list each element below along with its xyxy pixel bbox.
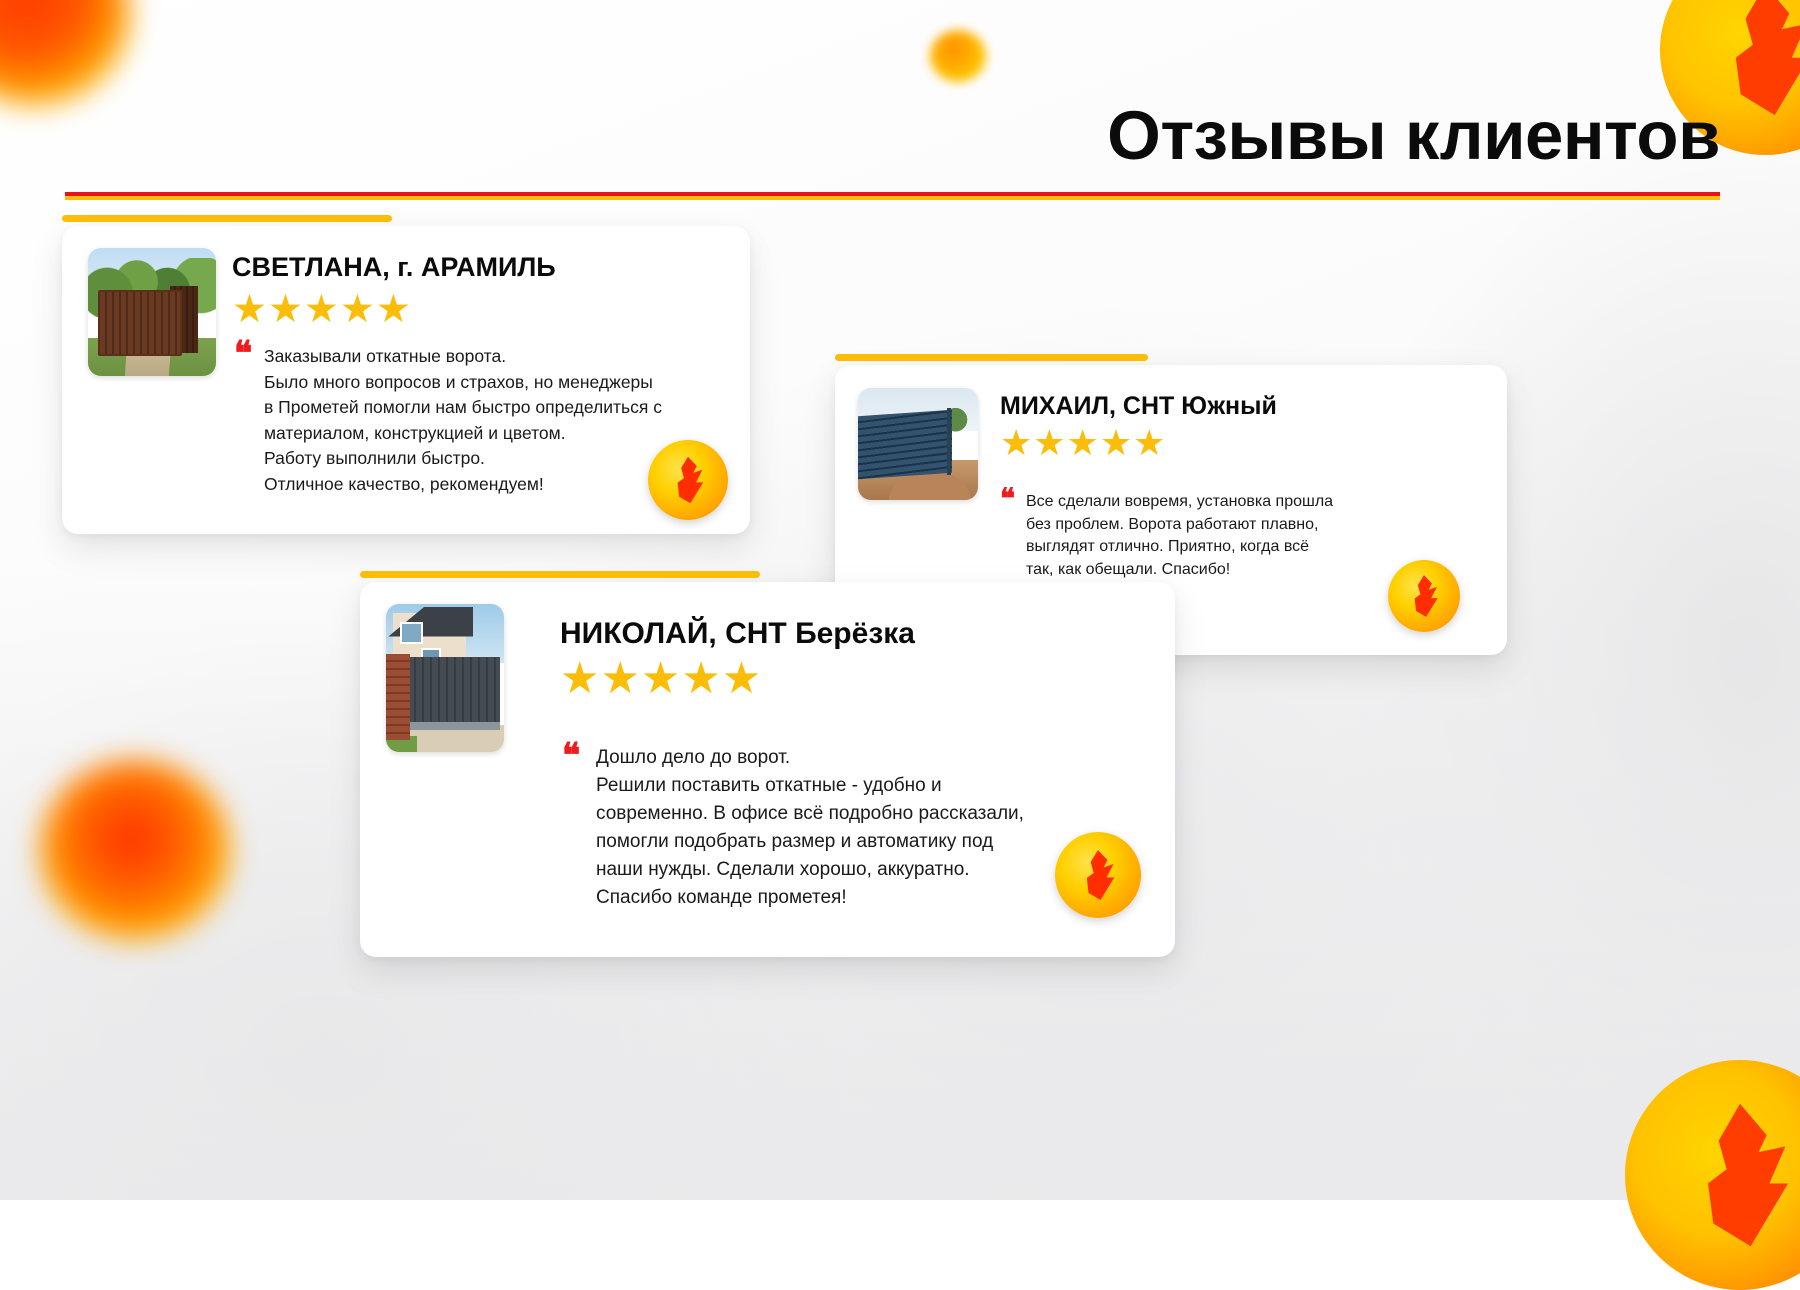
review-text-nikolay: Дошло дело до ворот. Решили поставить от… bbox=[596, 744, 1024, 912]
reviewer-name-nikolay: НИКОЛАЙ, СНТ Берёзка bbox=[560, 617, 915, 651]
card-accent-bar bbox=[835, 354, 1148, 361]
page-title: Отзывы клиентов bbox=[0, 96, 1720, 175]
decorative-blob-bottom-left bbox=[40, 760, 230, 940]
decorative-blob-top-center bbox=[930, 30, 986, 82]
flame-logo-icon-card1 bbox=[648, 440, 728, 520]
card-accent-bar bbox=[360, 571, 760, 578]
star-rating-mikhail: ★★★★★ bbox=[1000, 425, 1166, 461]
flame-logo-icon-card2 bbox=[1388, 560, 1460, 632]
reviewer-name-mikhail: МИХАИЛ, СНТ Южный bbox=[1000, 392, 1277, 421]
title-divider bbox=[65, 192, 1720, 200]
review-photo-nikolay bbox=[386, 604, 504, 752]
star-rating-nikolay: ★★★★★ bbox=[560, 657, 762, 701]
review-photo-mikhail bbox=[858, 388, 978, 500]
review-photo-svetlana bbox=[88, 248, 216, 376]
star-rating-svetlana: ★★★★★ bbox=[232, 290, 412, 329]
review-text-svetlana: Заказывали откатные ворота. Было много в… bbox=[264, 344, 662, 497]
quote-icon-mikhail: ❝ bbox=[1000, 486, 1015, 514]
review-text-mikhail: Все сделали вовремя, установка прошла бе… bbox=[1026, 491, 1333, 581]
flame-logo-icon-card3 bbox=[1055, 832, 1141, 918]
reviewer-name-svetlana: СВЕТЛАНА, г. АРАМИЛЬ bbox=[232, 252, 556, 283]
quote-icon-svetlana: ❝ bbox=[234, 338, 252, 372]
divider-yellow-line bbox=[65, 196, 1720, 200]
card-accent-bar bbox=[62, 215, 392, 222]
quote-icon-nikolay: ❝ bbox=[562, 740, 580, 774]
